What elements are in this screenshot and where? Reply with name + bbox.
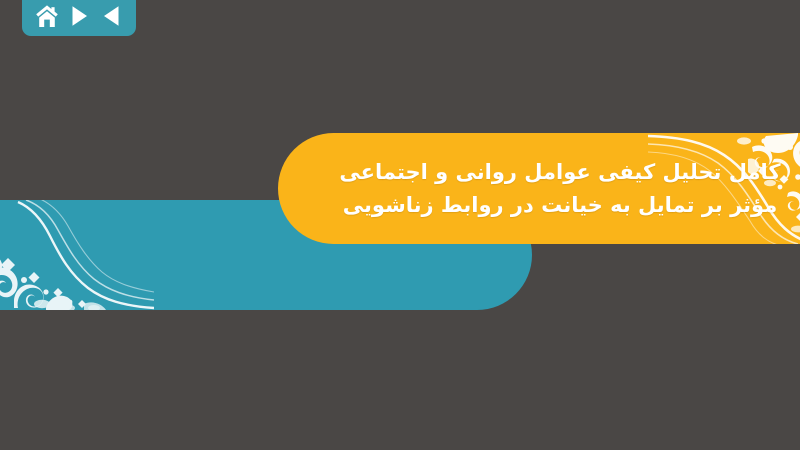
next-button[interactable] xyxy=(65,3,93,29)
slide-title: کامل تحلیل کیفی عوامل روانی و اجتماعی مؤ… xyxy=(278,156,800,222)
title-line-1: کامل تحلیل کیفی عوامل روانی و اجتماعی xyxy=(308,156,800,189)
yellow-banner: کامل تحلیل کیفی عوامل روانی و اجتماعی مؤ… xyxy=(278,133,800,244)
navigation-bar xyxy=(22,0,136,36)
home-icon xyxy=(35,5,59,28)
triangle-right-icon xyxy=(70,5,89,27)
title-line-2: مؤثر بر تمایل به خیانت در روابط زناشویی xyxy=(308,189,800,222)
slide-stage: کامل تحلیل کیفی عوامل روانی و اجتماعی مؤ… xyxy=(0,0,800,450)
home-button[interactable] xyxy=(33,3,61,29)
triangle-left-icon xyxy=(102,5,121,27)
previous-button[interactable] xyxy=(97,3,125,29)
teal-banner-ornament-icon xyxy=(0,200,154,310)
